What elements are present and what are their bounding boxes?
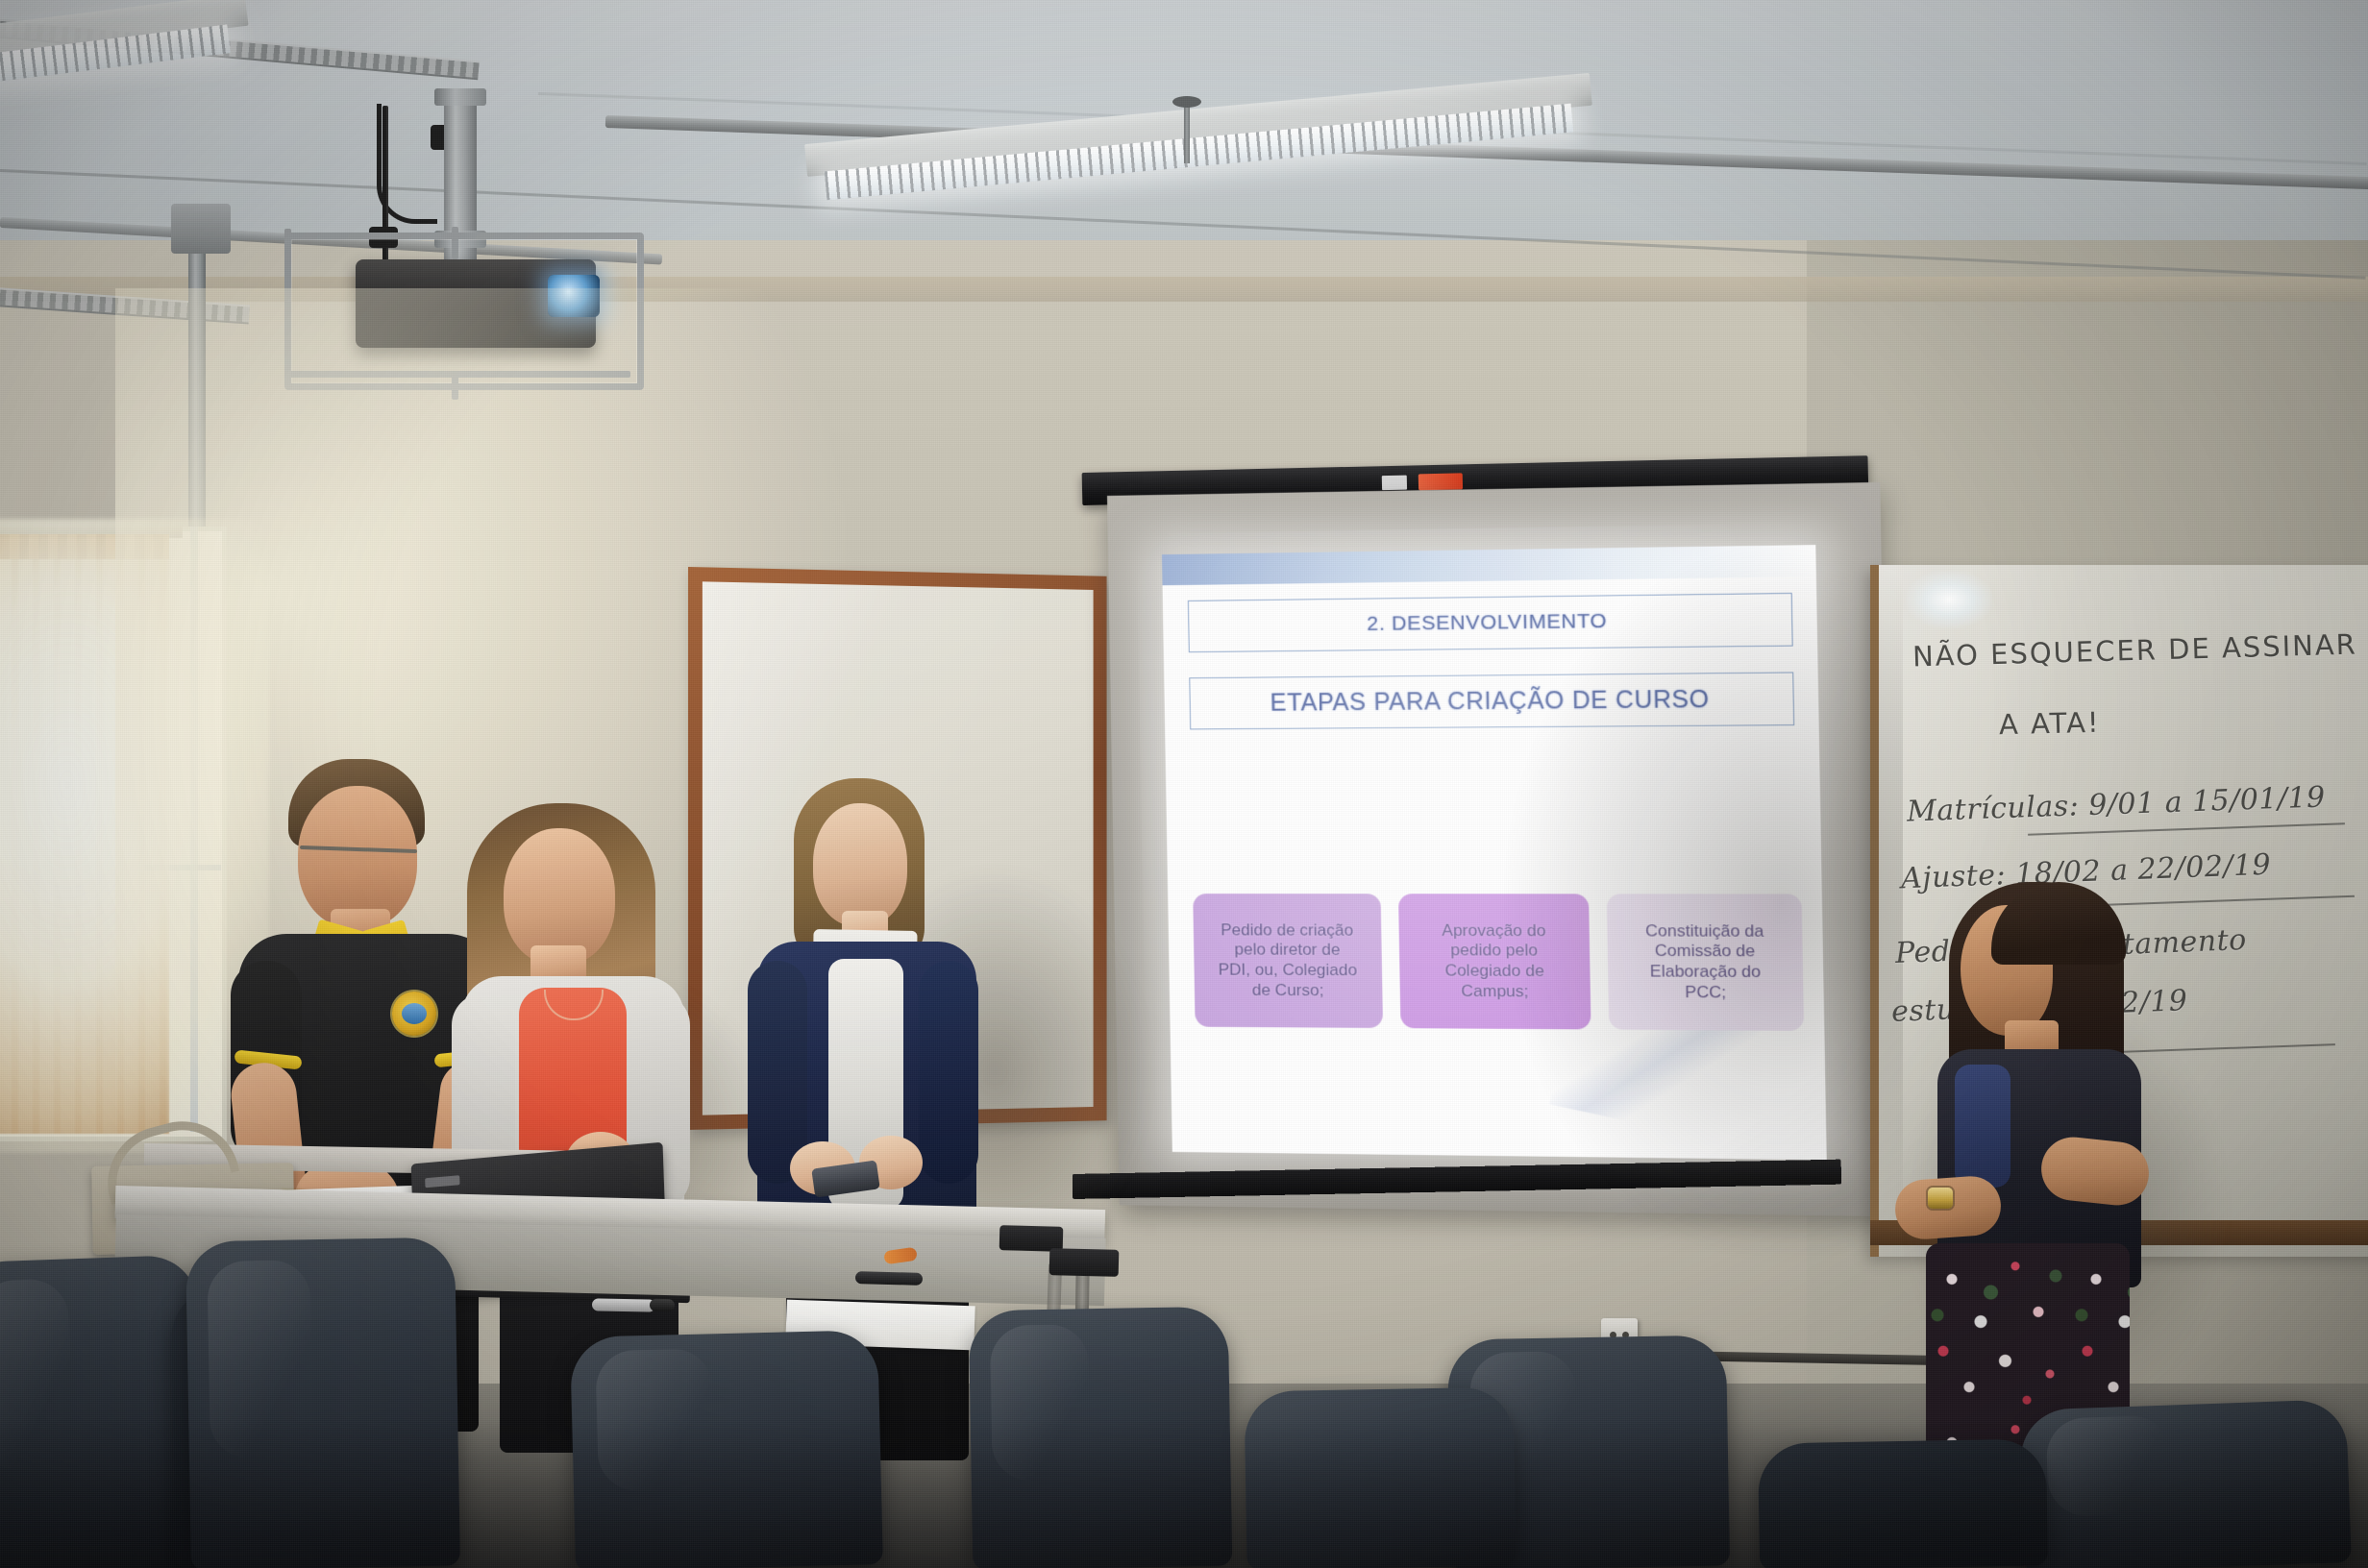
projector-security-cage: [284, 233, 644, 390]
head: [504, 828, 615, 965]
chair-highlight: [208, 1260, 313, 1458]
cage-bar: [452, 227, 458, 259]
slide-step-box: Constituição da Comissão de Elaboração d…: [1607, 894, 1804, 1031]
cage-bar: [452, 371, 458, 400]
chair-highlight: [990, 1324, 1091, 1482]
polo-crest-logo: [392, 992, 436, 1036]
cage-bar: [284, 229, 291, 382]
light-stem: [1184, 104, 1190, 163]
slide-subtitle: ETAPAS PARA CRIAÇÃO DE CURSO: [1189, 672, 1794, 729]
projection-screen: 2. DESENVOLVIMENTO ETAPAS PARA CRIAÇÃO D…: [1107, 482, 1893, 1216]
wristwatch: [1928, 1188, 1953, 1209]
head: [298, 786, 417, 928]
slide-step-box: Pedido de criação pelo diretor de PDI, o…: [1193, 894, 1383, 1028]
classroom-photo: 2. DESENVOLVIMENTO ETAPAS PARA CRIAÇÃO D…: [0, 0, 2368, 1568]
whiteboard-line: A ATA!: [1999, 706, 2101, 742]
whiteboard-glare: [1906, 571, 1992, 628]
laptop-badge: [425, 1175, 459, 1188]
window-light-glow: [0, 519, 269, 1153]
crest-inner: [402, 1003, 427, 1024]
chair[interactable]: [1758, 1438, 2048, 1568]
screen-brand-label: [1418, 473, 1463, 490]
chair[interactable]: [969, 1307, 1233, 1568]
chair[interactable]: [185, 1237, 460, 1568]
projected-slide: 2. DESENVOLVIMENTO ETAPAS PARA CRIAÇÃO D…: [1162, 545, 1827, 1160]
chair[interactable]: [2019, 1399, 2352, 1568]
top-inner-panel: [1955, 1065, 2010, 1188]
conduit-junction-box: [171, 204, 231, 254]
chair-highlight: [595, 1348, 715, 1491]
slide-step-box: Aprovação do pedido pelo Colegiado de Ca…: [1398, 894, 1591, 1029]
head: [813, 803, 907, 926]
chair[interactable]: [1244, 1387, 1516, 1568]
whiteboard-marker[interactable]: [592, 1298, 655, 1311]
whiteboard-marker[interactable]: [855, 1271, 923, 1286]
screen-sticker: [1382, 476, 1407, 491]
chair-highlight: [0, 1278, 74, 1471]
slide-step-boxes: Pedido de criação pelo diretor de PDI, o…: [1193, 894, 1804, 1031]
wall-conduit: [188, 217, 206, 534]
chair-highlight: [2046, 1415, 2174, 1517]
chair[interactable]: [570, 1330, 883, 1568]
arm-right-blazer: [919, 961, 978, 1184]
projector-pole-collar: [434, 88, 486, 106]
slide-title: 2. DESENVOLVIMENTO: [1188, 593, 1793, 652]
slide-top-band: [1162, 545, 1816, 585]
whiteboard-eraser[interactable]: [1049, 1248, 1120, 1277]
marker-cap: [650, 1299, 675, 1311]
light-canopy: [1172, 96, 1201, 108]
